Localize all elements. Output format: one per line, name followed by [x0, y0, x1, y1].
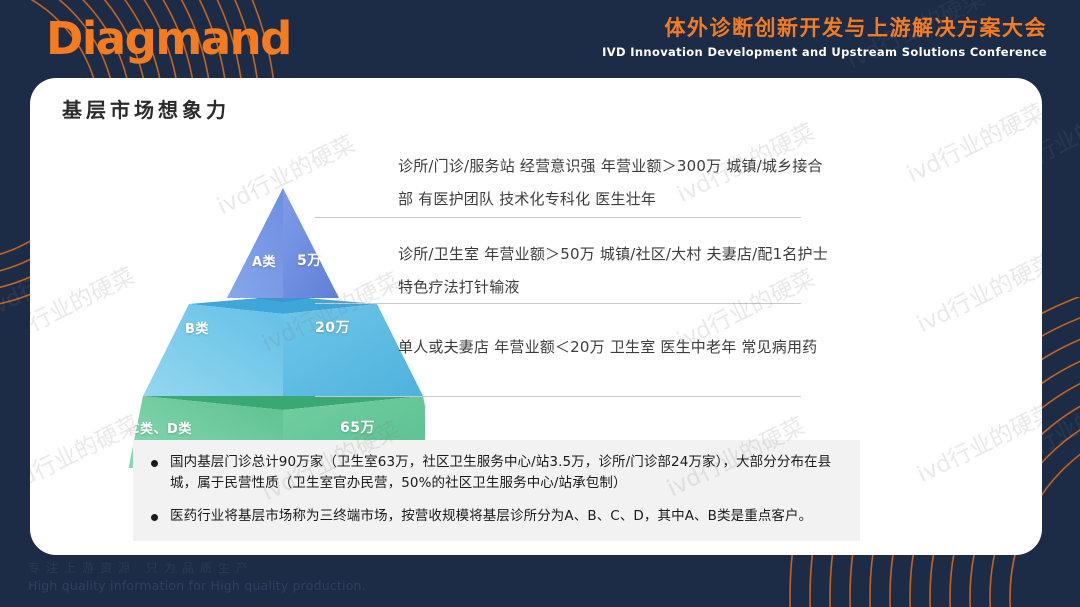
- pyramid-chart: A类 5万 B类 20万 C类、D类 65万: [85, 128, 425, 473]
- footer-tagline-cn: 专注上游资源 只为品质生产: [28, 560, 366, 577]
- slide-header: Diagmand 体外诊断创新开发与上游解决方案大会 IVD Innovatio…: [0, 0, 1080, 78]
- page-title: 基层市场想象力: [62, 94, 230, 123]
- list-item: 国内基层门诊总计90万家（卫生室63万，社区卫生服务中心/站3.5万，诊所/门诊…: [147, 452, 842, 494]
- footer-tagline-en: High quality information for High qualit…: [28, 577, 366, 594]
- tier-b-left-face: [143, 304, 283, 396]
- bullet-icon: [151, 514, 158, 521]
- tier-description-b: 诊所/卫生室 年营业额＞50万 城镇/社区/大村 夫妻店/配1名护士 特色疗法打…: [398, 238, 828, 304]
- brand-logo: Diagmand: [46, 11, 291, 67]
- tier-description-cd: 单人或夫妻店 年营业额＜20万 卫生室 医生中老年 常见病用药: [398, 331, 828, 364]
- divider-cd-bottom: [315, 396, 801, 397]
- tier-a-left-face: [227, 188, 283, 298]
- watermark: ivd行业的硬菜: [900, 93, 1042, 189]
- tier-a-right-face: [283, 188, 339, 298]
- conference-title-block: 体外诊断创新开发与上游解决方案大会 IVD Innovation Develop…: [602, 14, 1047, 61]
- divider-a-b: [315, 217, 801, 218]
- conference-title-cn: 体外诊断创新开发与上游解决方案大会: [602, 14, 1047, 42]
- pyramid-tier-a: [227, 188, 339, 302]
- watermark: ivd行业的硬菜: [910, 243, 1042, 339]
- slide-footer: 专注上游资源 只为品质生产 High quality information f…: [28, 560, 366, 594]
- list-item: 医药行业将基层市场称为三终端市场，按营收规模将基层诊所分为A、B、C、D，其中A…: [147, 506, 842, 527]
- divider-b-cd: [315, 303, 801, 304]
- bullet-icon: [151, 460, 158, 467]
- watermark: ivd行业的硬菜: [910, 393, 1042, 489]
- note-text: 国内基层门诊总计90万家（卫生室63万，社区卫生服务中心/站3.5万，诊所/门诊…: [170, 452, 842, 494]
- conference-title-en: IVD Innovation Development and Upstream …: [602, 43, 1047, 61]
- pyramid-svg: [85, 128, 425, 468]
- tier-description-a: 诊所/门诊/服务站 经营意识强 年营业额＞300万 城镇/城乡接合部 有医护团队…: [398, 150, 828, 216]
- content-card: 基层市场想象力: [30, 78, 1042, 555]
- note-text: 医药行业将基层市场称为三终端市场，按营收规模将基层诊所分为A、B、C、D，其中A…: [170, 506, 812, 527]
- pyramid-tier-b: [143, 296, 423, 396]
- slide-root: Diagmand 体外诊断创新开发与上游解决方案大会 IVD Innovatio…: [0, 0, 1080, 607]
- notes-box: 国内基层门诊总计90万家（卫生室63万，社区卫生服务中心/站3.5万，诊所/门诊…: [133, 440, 860, 541]
